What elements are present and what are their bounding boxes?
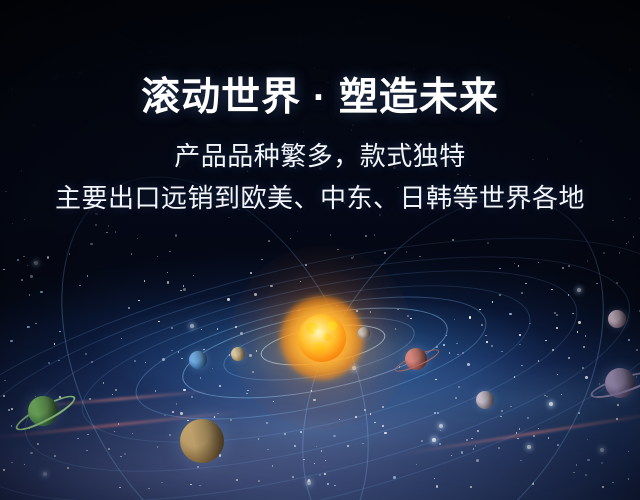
page-title: 滚动世界 · 塑造未来 xyxy=(0,0,640,120)
space-hero-banner: 滚动世界 · 塑造未来 产品品种繁多，款式独特 主要出口远销到欧美、中东、日韩等… xyxy=(0,0,640,500)
subtitle-line-1: 产品品种繁多，款式独特 xyxy=(0,120,640,175)
headline-text-block: 滚动世界 · 塑造未来 产品品种繁多，款式独特 主要出口远销到欧美、中东、日韩等… xyxy=(0,0,640,217)
subtitle-line-2: 主要出口远销到欧美、中东、日韩等世界各地 xyxy=(0,175,640,217)
